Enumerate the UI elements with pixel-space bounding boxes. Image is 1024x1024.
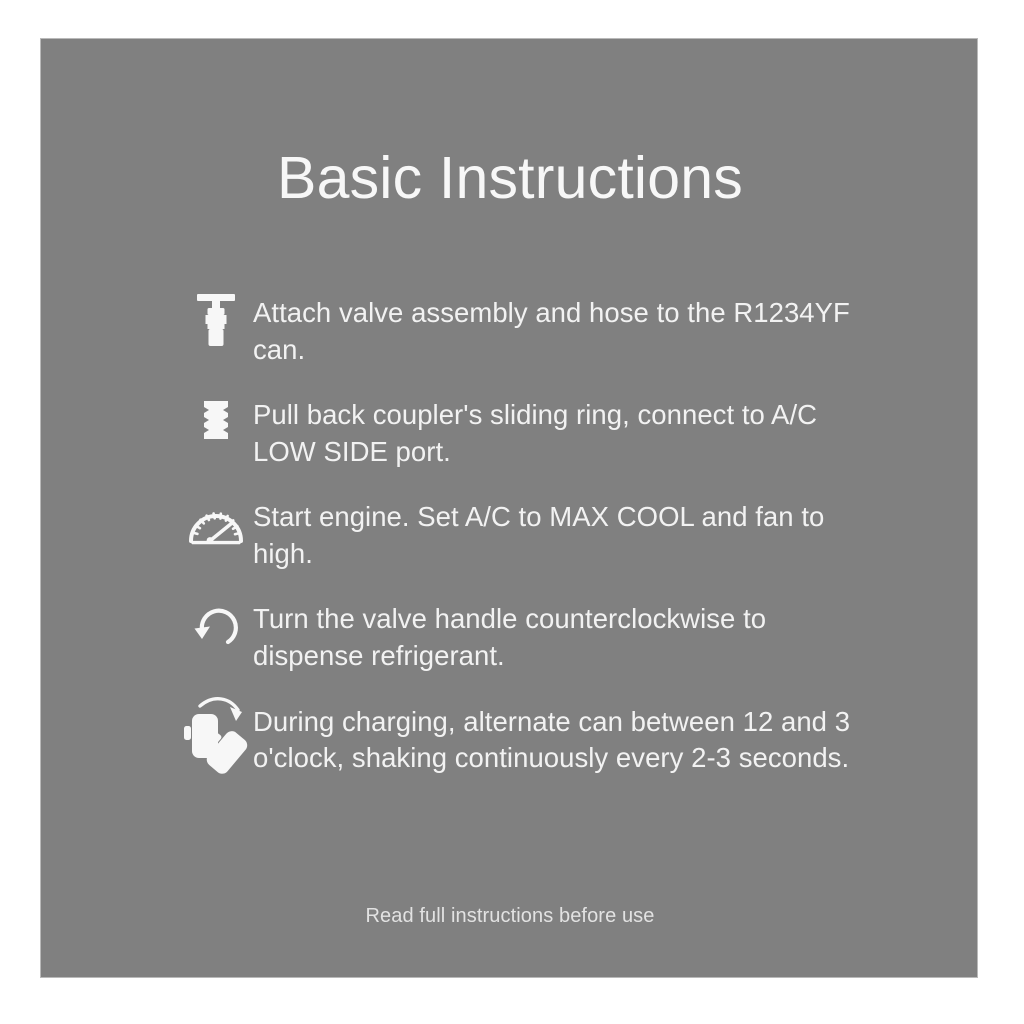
list-item-label: Start engine. Set A/C to MAX COOL and fa… <box>253 495 855 572</box>
counterclockwise-rotation-icon <box>179 599 253 655</box>
shake-can-icon <box>179 702 253 758</box>
footer-note: Read full instructions before use <box>41 905 979 928</box>
list-item-label: Turn the valve handle counterclockwise t… <box>253 597 855 674</box>
instructions-card: Basic Instructions Attach valve assembly… <box>40 38 978 978</box>
instruction-card-page: Basic Instructions Attach valve assembly… <box>0 0 1024 1024</box>
instruction-step-list: Attach valve assembly and hose to the R1… <box>41 291 979 802</box>
list-item: Turn the valve handle counterclockwise t… <box>41 597 979 674</box>
page-title: Basic Instructions <box>41 149 979 208</box>
coupler-sliding-ring-icon <box>179 395 253 451</box>
list-item: Pull back coupler's sliding ring, connec… <box>41 393 979 470</box>
list-item: Start engine. Set A/C to MAX COOL and fa… <box>41 495 979 572</box>
valve-assembly-icon <box>179 293 253 349</box>
list-item-label: During charging, alternate can between 1… <box>253 700 855 777</box>
list-item-label: Attach valve assembly and hose to the R1… <box>253 291 855 368</box>
list-item: Attach valve assembly and hose to the R1… <box>41 291 979 368</box>
list-item-label: Pull back coupler's sliding ring, connec… <box>253 393 855 470</box>
list-item: During charging, alternate can between 1… <box>41 700 979 777</box>
gauge-icon <box>179 497 253 553</box>
